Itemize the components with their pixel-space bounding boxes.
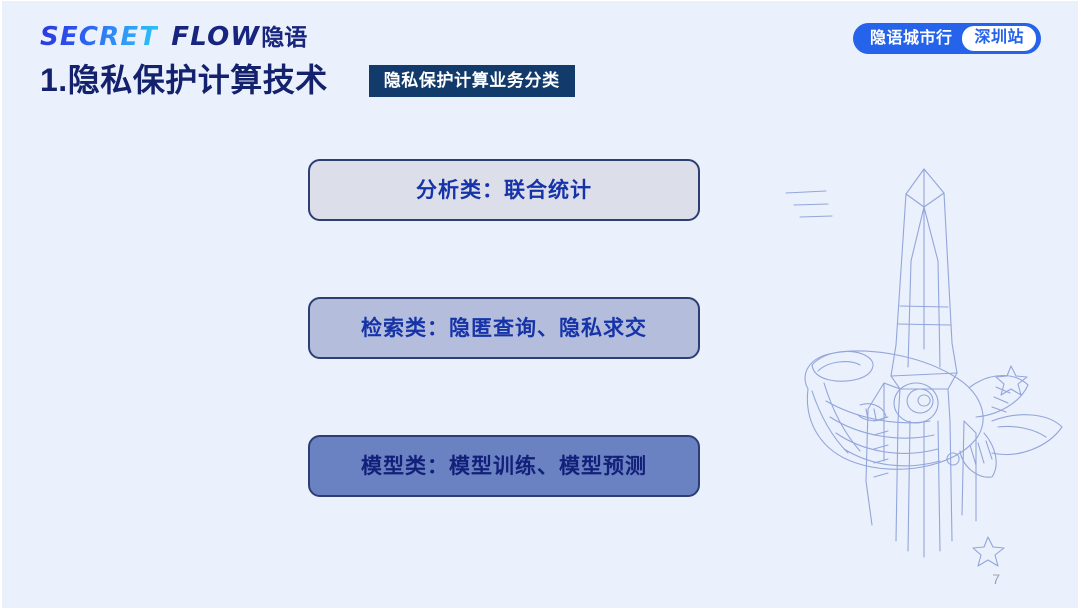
whale-body [805,351,1062,477]
city-name-pill: 深圳站 [962,26,1036,51]
rocket-body [896,169,952,367]
category-label-model: 模型类：模型训练、模型预测 [361,456,647,477]
secretflow-logo: SECRET FLOW 隐语 [40,21,307,53]
category-label-retrieval: 检索类：隐匿查询、隐私求交 [361,318,647,339]
subject-badge: 隐私保护计算业务分类 [369,65,575,97]
logo-word-flow: FLOW [171,24,260,50]
whale-rocket-illustration [748,121,1078,608]
slide-root: SECRET FLOW 隐语 隐语城市行 深圳站 1.隐私保护计算技术 隐私保护… [0,0,1080,608]
logo-word-secret: SECRET [40,24,158,50]
city-tour-badge: 隐语城市行 深圳站 [853,23,1041,54]
category-box-list: 分析类：联合统计 检索类：隐匿查询、隐私求交 模型类：模型训练、模型预测 [308,159,700,497]
city-tour-label: 隐语城市行 [870,31,963,47]
page-title: 1.隐私保护计算技术 [40,63,328,98]
category-box-analysis[interactable]: 分析类：联合统计 [308,159,700,221]
category-box-retrieval[interactable]: 检索类：隐匿查询、隐私求交 [308,297,700,359]
title-row: 1.隐私保护计算技术 隐私保护计算业务分类 [40,63,575,98]
logo-word-cn: 隐语 [261,26,307,49]
page-number: 7 [992,572,1000,586]
category-box-model[interactable]: 模型类：模型训练、模型预测 [308,435,700,497]
rocket-fins [866,343,976,557]
speed-lines-icon [786,191,832,217]
sparkle-icon [973,366,1027,566]
category-label-analysis: 分析类：联合统计 [416,180,592,201]
